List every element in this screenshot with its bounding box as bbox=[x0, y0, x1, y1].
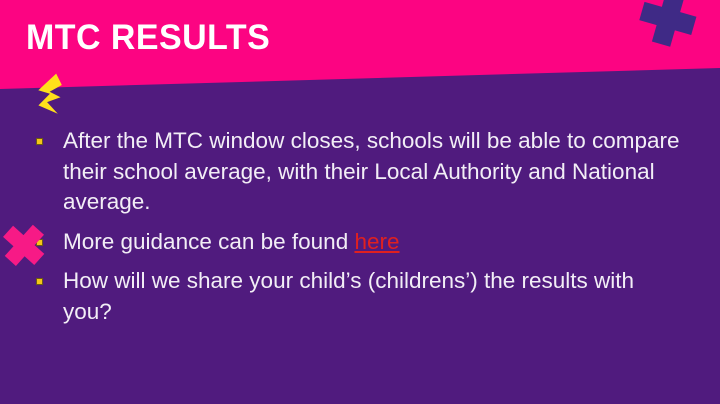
bullet-list: After the MTC window closes, schools wil… bbox=[36, 126, 686, 336]
list-item-text: After the MTC window closes, schools wil… bbox=[63, 126, 686, 218]
cross-topright-icon bbox=[641, 0, 695, 45]
list-item-text-main: How will we share your child’s (children… bbox=[63, 268, 634, 324]
list-item: After the MTC window closes, schools wil… bbox=[36, 126, 686, 218]
guidance-link[interactable]: here bbox=[354, 229, 399, 254]
cross-left-icon bbox=[3, 224, 45, 266]
list-item-text: More guidance can be found here bbox=[63, 227, 686, 258]
list-item: More guidance can be found here bbox=[36, 227, 686, 258]
bullet-marker-icon bbox=[36, 138, 43, 145]
list-item-text-main: More guidance can be found bbox=[63, 229, 354, 254]
bullet-marker-icon bbox=[36, 278, 43, 285]
slide-canvas: MTC RESULTS After the MTC window closes,… bbox=[0, 0, 720, 404]
list-item-text-main: After the MTC window closes, schools wil… bbox=[63, 128, 680, 214]
lightning-bolt-icon bbox=[33, 72, 77, 116]
list-item-text: How will we share your child’s (children… bbox=[63, 266, 686, 327]
page-title: MTC RESULTS bbox=[26, 17, 270, 59]
list-item: How will we share your child’s (children… bbox=[36, 266, 686, 327]
